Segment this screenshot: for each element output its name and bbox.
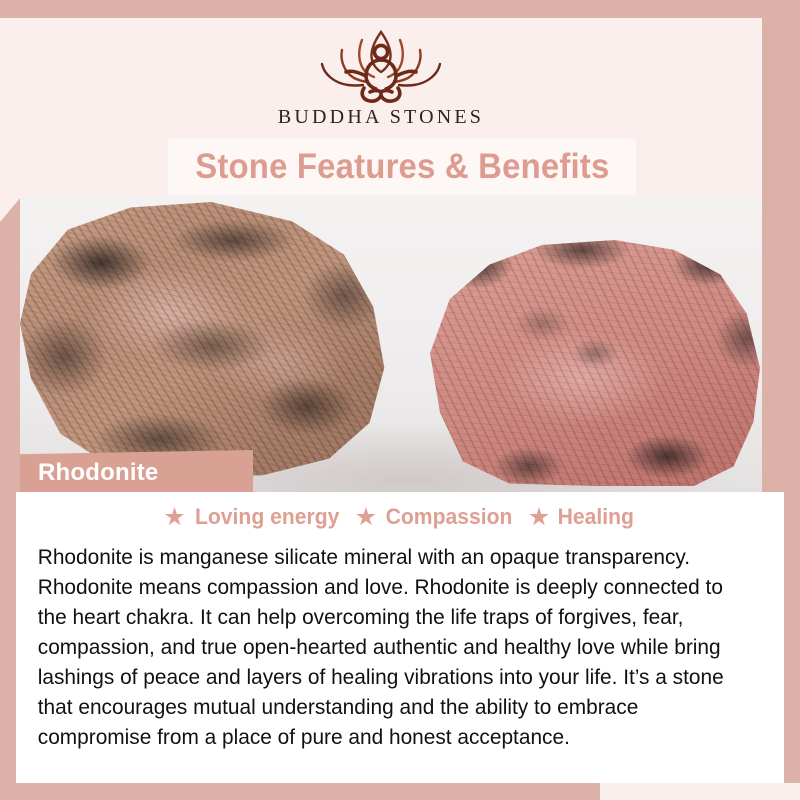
benefit-label: Loving energy xyxy=(195,504,339,530)
star-icon xyxy=(356,507,376,527)
brand-name: BUDDHA STONES xyxy=(278,106,484,129)
star-icon xyxy=(529,507,549,527)
title-banner: Stone Features & Benefits xyxy=(168,139,636,195)
lotus-meditation-icon xyxy=(306,26,456,104)
rhodonite-stone-right xyxy=(430,240,760,486)
stone-photo xyxy=(16,196,800,492)
frame-corner-bottom-right xyxy=(600,783,800,800)
benefit-label: Healing xyxy=(558,504,634,530)
benefit-item: Compassion xyxy=(356,504,515,530)
stone-name-label: Rhodonite xyxy=(38,459,158,487)
brand-header: BUDDHA STONES xyxy=(0,18,762,140)
benefits-row: Loving energy Compassion Healing xyxy=(30,492,770,538)
stone-right-texture xyxy=(430,240,760,486)
page-title: Stone Features & Benefits xyxy=(195,147,609,187)
benefit-label: Compassion xyxy=(386,504,513,530)
benefit-item: Loving energy xyxy=(165,504,342,530)
frame-band-top xyxy=(0,0,800,18)
frame-band-bottom xyxy=(0,783,620,800)
benefit-item: Healing xyxy=(529,504,635,530)
stone-name-badge: Rhodonite xyxy=(16,450,253,492)
stone-description: Rhodonite is manganese silicate mineral … xyxy=(30,542,748,752)
content-panel: Loving energy Compassion Healing Rhodoni… xyxy=(16,492,784,783)
star-icon xyxy=(165,507,185,527)
infographic-page: BUDDHA STONES Stone Features & Benefits … xyxy=(0,0,800,800)
